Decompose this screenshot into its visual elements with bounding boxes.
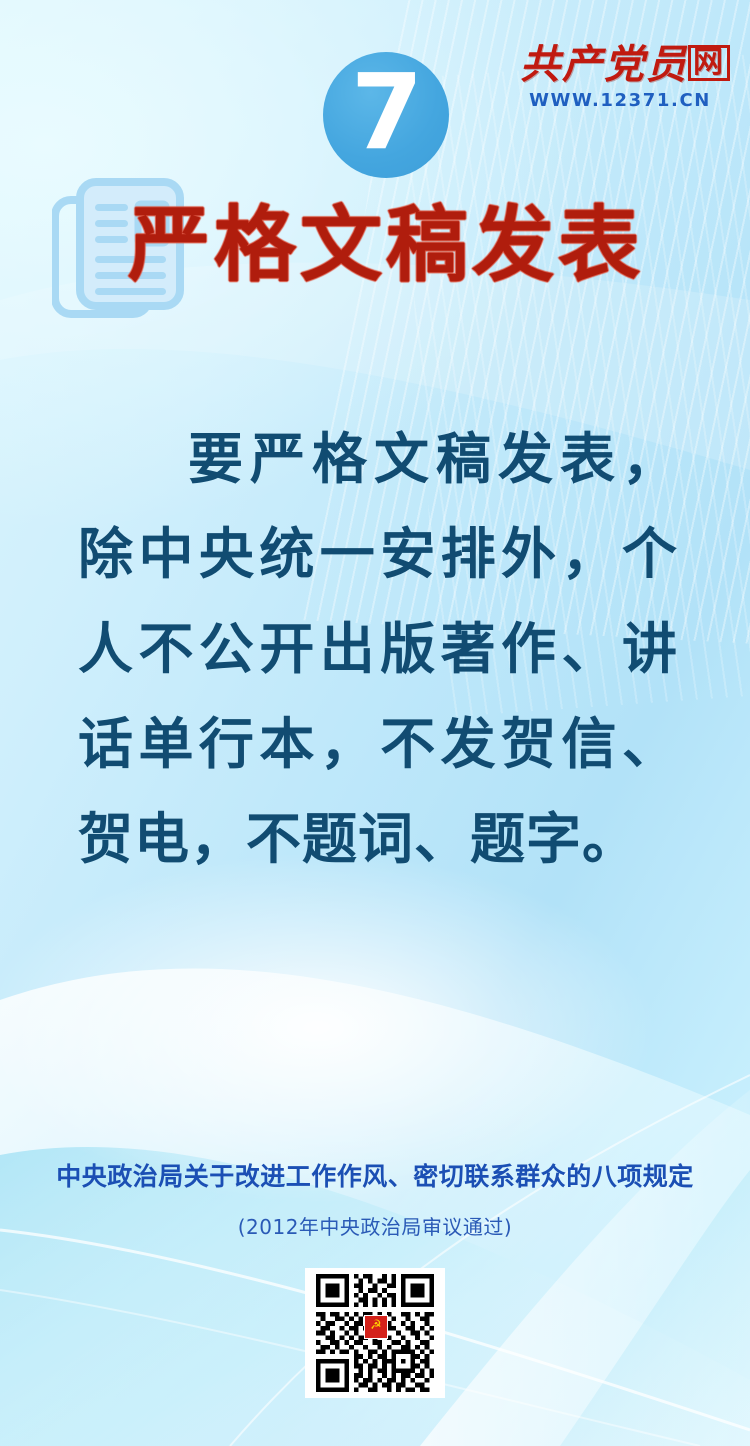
hammer-sickle-glyph: ☭: [370, 1319, 382, 1332]
party-emblem-icon: ☭: [365, 1316, 387, 1338]
item-number-badge: 7: [323, 52, 449, 178]
item-number-value: 7: [351, 60, 423, 164]
poster-canvas: 共产党员网 WWW.12371.CN 7 严格文稿发表 要严格文稿发表，除中央统…: [0, 0, 750, 1446]
qr-code[interactable]: ☭: [305, 1268, 445, 1398]
qr-code-matrix: ☭: [315, 1274, 435, 1392]
site-logo-boxed-char: 网: [688, 45, 730, 81]
page-title: 严格文稿发表: [128, 198, 688, 294]
regulation-body-text: 要严格文稿发表，除中央统一安排外，个人不公开出版著作、讲话单行本，不发贺信、贺电…: [78, 412, 678, 887]
site-logo-wordmark: 共产党员网: [520, 42, 720, 88]
footer-regulation-title: 中央政治局关于改进工作作风、密切联系群众的八项规定: [0, 1157, 750, 1193]
footer-regulation-subtitle: (2012年中央政治局审议通过): [0, 1211, 750, 1240]
site-logo-url: WWW.12371.CN: [520, 90, 720, 111]
site-logo[interactable]: 共产党员网 WWW.12371.CN: [520, 42, 720, 122]
site-logo-calligraphy: 共产党员: [520, 41, 688, 88]
